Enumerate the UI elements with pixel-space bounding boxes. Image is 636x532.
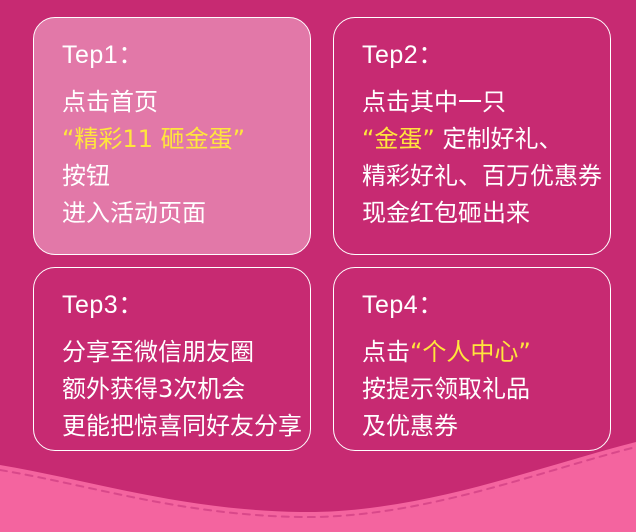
highlight-text-segment: “个人中心” — [410, 338, 531, 366]
step-card-3-line-1: 分享至微信朋友圈 — [62, 334, 310, 371]
step-card-2-line-2: “金蛋” 定制好礼、 — [362, 121, 610, 158]
step-card-2-content: Tep2： 点击其中一只 “金蛋” 定制好礼、 精彩好礼、百万优惠券 现金红包砸… — [334, 18, 610, 232]
text-segment: 现金红包砸出来 — [362, 199, 530, 227]
step-card-4-line-3: 及优惠券 — [362, 408, 610, 445]
text-segment: 精彩好礼、百万优惠券 — [362, 162, 602, 190]
step-card-2: Tep2： 点击其中一只 “金蛋” 定制好礼、 精彩好礼、百万优惠券 现金红包砸… — [333, 17, 611, 255]
step-card-4-content: Tep4： 点击“个人中心” 按提示领取礼品 及优惠券 — [334, 268, 610, 445]
step-card-1-line-1: 点击首页 — [62, 84, 310, 121]
step-card-3-title: Tep3： — [62, 290, 310, 320]
step-card-2-line-3: 精彩好礼、百万优惠券 — [362, 158, 610, 195]
step-card-1-line-4: 进入活动页面 — [62, 195, 310, 232]
step-card-2-line-1: 点击其中一只 — [362, 84, 610, 121]
step-card-2-line-4: 现金红包砸出来 — [362, 195, 610, 232]
step-card-4-body: 点击“个人中心” 按提示领取礼品 及优惠券 — [362, 334, 610, 445]
step-card-3-body: 分享至微信朋友圈 额外获得3次机会 更能把惊喜同好友分享 — [62, 334, 310, 445]
step-card-4: Tep4： 点击“个人中心” 按提示领取礼品 及优惠券 — [333, 267, 611, 451]
text-segment: 更能把惊喜同好友分享 — [62, 412, 302, 440]
text-segment: 额外获得3次机会 — [62, 375, 245, 403]
wave-dashed-line — [0, 447, 636, 517]
step-card-2-body: 点击其中一只 “金蛋” 定制好礼、 精彩好礼、百万优惠券 现金红包砸出来 — [362, 84, 610, 232]
step-card-1-line-2: “精彩11 砸金蛋” — [62, 121, 310, 158]
text-segment: 点击 — [362, 338, 410, 366]
highlight-text-segment: “精彩11 砸金蛋” — [62, 125, 245, 153]
text-segment: 按提示领取礼品 — [362, 375, 530, 403]
step-card-2-title: Tep2： — [362, 40, 610, 70]
step-card-1-body: 点击首页 “精彩11 砸金蛋” 按钮 进入活动页面 — [62, 84, 310, 232]
step-card-3-line-2: 额外获得3次机会 — [62, 371, 310, 408]
step-card-3-line-3: 更能把惊喜同好友分享 — [62, 408, 310, 445]
promo-steps-banner: Tep1： 点击首页 “精彩11 砸金蛋” 按钮 进入活动页面 Tep2： — [0, 0, 636, 532]
wave-fill-shape — [0, 442, 636, 532]
step-card-4-title: Tep4： — [362, 290, 610, 320]
text-segment: 进入活动页面 — [62, 199, 206, 227]
text-segment: 点击首页 — [62, 88, 158, 116]
step-card-4-line-2: 按提示领取礼品 — [362, 371, 610, 408]
text-segment: 分享至微信朋友圈 — [62, 338, 254, 366]
text-segment: 及优惠券 — [362, 412, 458, 440]
step-card-1: Tep1： 点击首页 “精彩11 砸金蛋” 按钮 进入活动页面 — [33, 17, 311, 255]
text-segment: 定制好礼、 — [435, 125, 563, 153]
step-card-1-line-3: 按钮 — [62, 158, 310, 195]
text-segment: 点击其中一只 — [362, 88, 506, 116]
step-card-4-line-1: 点击“个人中心” — [362, 334, 610, 371]
highlight-text-segment: “金蛋” — [362, 125, 435, 153]
step-card-3-content: Tep3： 分享至微信朋友圈 额外获得3次机会 更能把惊喜同好友分享 — [34, 268, 310, 445]
step-card-3: Tep3： 分享至微信朋友圈 额外获得3次机会 更能把惊喜同好友分享 — [33, 267, 311, 451]
text-segment: 按钮 — [62, 162, 110, 190]
step-card-1-content: Tep1： 点击首页 “精彩11 砸金蛋” 按钮 进入活动页面 — [34, 18, 310, 232]
step-card-1-title: Tep1： — [62, 40, 310, 70]
